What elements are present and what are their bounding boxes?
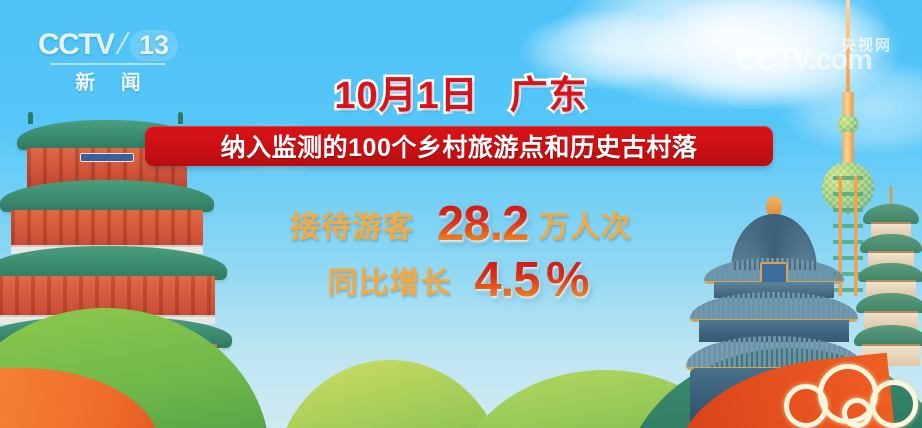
pavilion-finial (28, 112, 33, 124)
hill-shape (275, 360, 505, 428)
stat-label: 接待游客 (290, 211, 414, 244)
temple-finial (766, 196, 782, 216)
headline-date: 10月1日 (334, 64, 478, 119)
stat-unit: % (546, 253, 589, 307)
headline-row: 10月1日 广东 (0, 64, 922, 119)
pavilion-finial (178, 112, 183, 124)
pagoda-roof (863, 204, 919, 224)
stat-value: 28.2 (437, 197, 528, 251)
cloud-swirl (870, 380, 918, 428)
banner-text: 纳入监测的100个乡村旅游点和历史古村落 (221, 128, 698, 164)
news-graphic-frame: CCTV / 13 新 闻 央视网 CCTV.com 10月1日 广东 纳入监测… (0, 0, 922, 428)
tower-needle (846, 0, 850, 92)
cctv-wordmark: CCTV (38, 28, 114, 62)
temple-window (760, 262, 788, 284)
channel-number: 13 (130, 30, 178, 61)
logo-slash-icon: / (113, 28, 131, 62)
channel-subtitle: 新 闻 (44, 66, 172, 95)
cctv13-channel-logo: CCTV / 13 新 闻 (44, 28, 172, 95)
pagoda-illustration-right (856, 186, 922, 366)
cloud-swirl (842, 398, 872, 428)
auspicious-cloud-swirls (778, 350, 922, 428)
stat-value: 4.5 (474, 253, 539, 307)
stat-unit: 万人次 (539, 211, 632, 244)
headline-region: 广东 (510, 64, 588, 119)
stat-label: 同比增长 (327, 267, 451, 300)
logo-underline (50, 63, 166, 65)
cloud-shape (520, 10, 700, 90)
red-banner: 纳入监测的100个乡村旅游点和历史古村落 (145, 126, 773, 166)
pavilion-plaque (80, 153, 134, 162)
